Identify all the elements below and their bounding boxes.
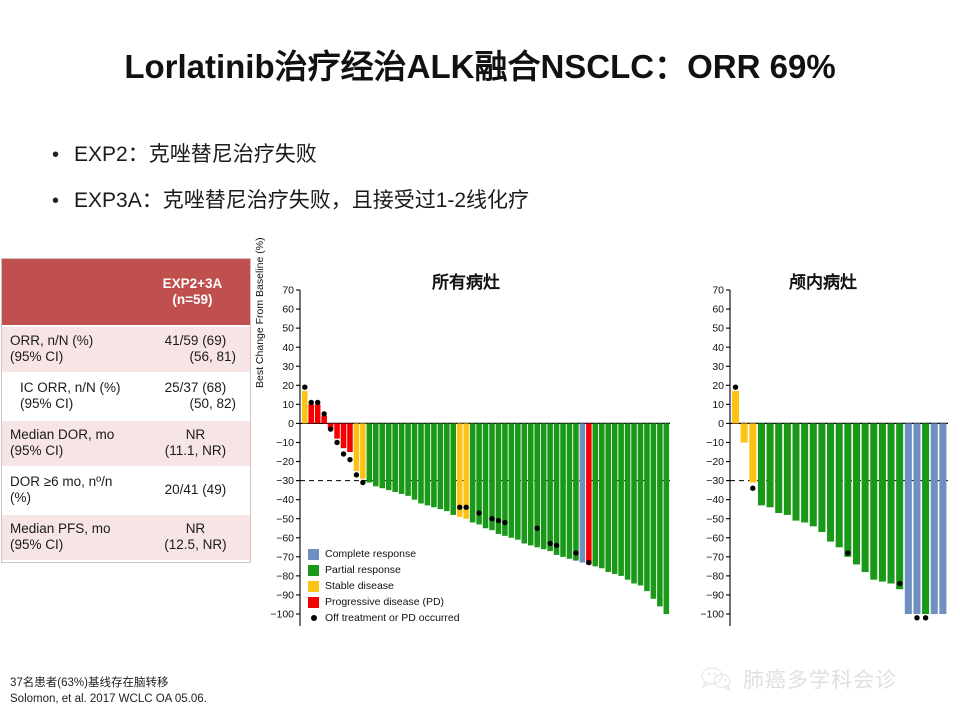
table-header-value: EXP2+3A (n=59) [141,259,250,326]
label-line1: Median DOR, mo [10,427,133,443]
svg-text:−50: −50 [706,513,724,525]
legend-swatch-icon [308,565,319,576]
value-line2: (56, 81) [149,349,242,365]
label-line2: (95% CI) [10,537,133,553]
svg-text:−10: −10 [706,437,724,449]
waterfall-chart-intracranial: 颅内病灶 706050403020100−10−20−30−40−50−60−7… [690,268,956,638]
value-line1: NR [149,427,242,443]
svg-text:60: 60 [712,304,724,316]
svg-text:−20: −20 [706,456,724,468]
value-line2: (12.5, NR) [149,537,242,553]
value-line1: 20/41 (49) [149,482,242,498]
svg-text:70: 70 [282,285,294,297]
svg-text:10: 10 [282,399,294,411]
footnote: 37名患者(63%)基线存在脑转移 Solomon, et al. 2017 W… [10,676,207,707]
label-line1: IC ORR, n/N (%) [20,380,133,396]
svg-text:40: 40 [282,342,294,354]
svg-text:60: 60 [282,304,294,316]
wechat-icon [700,666,734,692]
watermark: 肺癌多学科会诊 [700,664,897,694]
svg-text:40: 40 [712,342,724,354]
svg-text:−90: −90 [706,590,724,602]
page-title: Lorlatinib治疗经治ALK融合NSCLC：ORR 69% [0,40,960,88]
svg-text:−30: −30 [276,475,294,487]
svg-text:−100: −100 [270,609,294,621]
svg-text:−60: −60 [706,532,724,544]
table-header-value-line1: EXP2+3A [149,276,236,292]
svg-text:10: 10 [712,399,724,411]
table-header-row: EXP2+3A (n=59) [2,259,250,326]
table-header-label [2,259,141,326]
table-row: DOR ≥6 mo, nº/n (%) 20/41 (49) [2,467,250,514]
table-row: ORR, n/N (%) (95% CI) 41/59 (69) (56, 81… [2,326,250,373]
svg-text:−50: −50 [276,513,294,525]
list-item: • EXP3A：克唑替尼治疗失败，且接受过1-2线化疗 [52,186,812,216]
table-header-value-line2: (n=59) [149,292,236,308]
svg-text:−20: −20 [276,456,294,468]
svg-text:50: 50 [282,323,294,335]
label-line1: DOR ≥6 mo, nº/n [10,474,133,490]
svg-text:30: 30 [282,361,294,373]
table-cell-label: ORR, n/N (%) (95% CI) [2,326,141,373]
legend-label: Complete response [325,548,416,560]
footnote-line1: 37名患者(63%)基线存在脑转移 [10,676,207,692]
value-line1: 41/59 (69) [149,333,242,349]
svg-text:70: 70 [712,285,724,297]
bullet-list: • EXP2：克唑替尼治疗失败 • EXP3A：克唑替尼治疗失败，且接受过1-2… [52,140,812,232]
chart-plot-area: 706050403020100−10−20−30−40−50−60−70−80−… [690,268,956,638]
svg-text:−100: −100 [700,609,724,621]
slide-root: Lorlatinib治疗经治ALK融合NSCLC：ORR 69% • EXP2：… [0,0,960,720]
label-line2: (95% CI) [10,349,133,365]
svg-text:0: 0 [718,418,724,430]
table-cell-value: NR (12.5, NR) [141,514,250,561]
svg-text:−70: −70 [276,551,294,563]
table-row: IC ORR, n/N (%) (95% CI) 25/37 (68) (50,… [2,373,250,420]
chart-legend: Complete response Partial response Stabl… [308,546,460,626]
label-line2: (95% CI) [20,396,133,412]
table-cell-value: 25/37 (68) (50, 82) [141,373,250,420]
table-cell-label: IC ORR, n/N (%) (95% CI) [2,373,141,420]
legend-swatch-icon [308,597,319,608]
legend-item-off-treatment: Off treatment or PD occurred [308,610,460,626]
legend-swatch-icon [308,549,319,560]
off-treatment-dot-icon [308,615,319,621]
svg-text:−10: −10 [276,437,294,449]
bullet-marker: • [52,186,74,216]
legend-item-complete-response: Complete response [308,546,460,562]
value-line2: (50, 82) [149,396,242,412]
value-line1: 25/37 (68) [149,380,242,396]
value-line2: (11.1, NR) [149,443,242,459]
bullet-text: EXP3A：克唑替尼治疗失败，且接受过1-2线化疗 [74,186,529,216]
label-line2: (95% CI) [10,443,133,459]
svg-text:20: 20 [282,380,294,392]
svg-text:−90: −90 [276,590,294,602]
legend-item-partial-response: Partial response [308,562,460,578]
watermark-text: 肺癌多学科会诊 [743,664,897,694]
svg-text:−80: −80 [706,570,724,582]
table-cell-label: Median PFS, mo (95% CI) [2,514,141,561]
legend-item-stable-disease: Stable disease [308,578,460,594]
svg-text:−40: −40 [276,494,294,506]
legend-label: Partial response [325,564,401,576]
legend-label: Off treatment or PD occurred [325,612,460,624]
table-cell-value: 20/41 (49) [141,467,250,514]
table-cell-label: DOR ≥6 mo, nº/n (%) [2,467,141,514]
legend-label: Progressive disease (PD) [325,596,444,608]
bullet-marker: • [52,140,74,170]
svg-text:20: 20 [712,380,724,392]
table-cell-value: NR (11.1, NR) [141,420,250,467]
table-row: Median PFS, mo (95% CI) NR (12.5, NR) [2,514,250,561]
table-cell-value: 41/59 (69) (56, 81) [141,326,250,373]
results-table: EXP2+3A (n=59) ORR, n/N (%) (95% CI) 41/… [2,259,250,562]
legend-label: Stable disease [325,580,394,592]
label-line2: (%) [10,490,133,506]
footnote-line2: Solomon, et al. 2017 WCLC OA 05.06. [10,692,207,708]
legend-swatch-icon [308,581,319,592]
svg-text:−70: −70 [706,551,724,563]
list-item: • EXP2：克唑替尼治疗失败 [52,140,812,170]
value-line1: NR [149,521,242,537]
svg-text:0: 0 [288,418,294,430]
svg-text:50: 50 [712,323,724,335]
label-line1: ORR, n/N (%) [10,333,133,349]
bullet-text: EXP2：克唑替尼治疗失败 [74,140,317,170]
svg-text:−40: −40 [706,494,724,506]
table-row: Median DOR, mo (95% CI) NR (11.1, NR) [2,420,250,467]
svg-text:−30: −30 [706,475,724,487]
label-line1: Median PFS, mo [10,521,133,537]
legend-item-progressive-disease: Progressive disease (PD) [308,594,460,610]
svg-text:−80: −80 [276,570,294,582]
svg-text:30: 30 [712,361,724,373]
svg-text:−60: −60 [276,532,294,544]
table-cell-label: Median DOR, mo (95% CI) [2,420,141,467]
